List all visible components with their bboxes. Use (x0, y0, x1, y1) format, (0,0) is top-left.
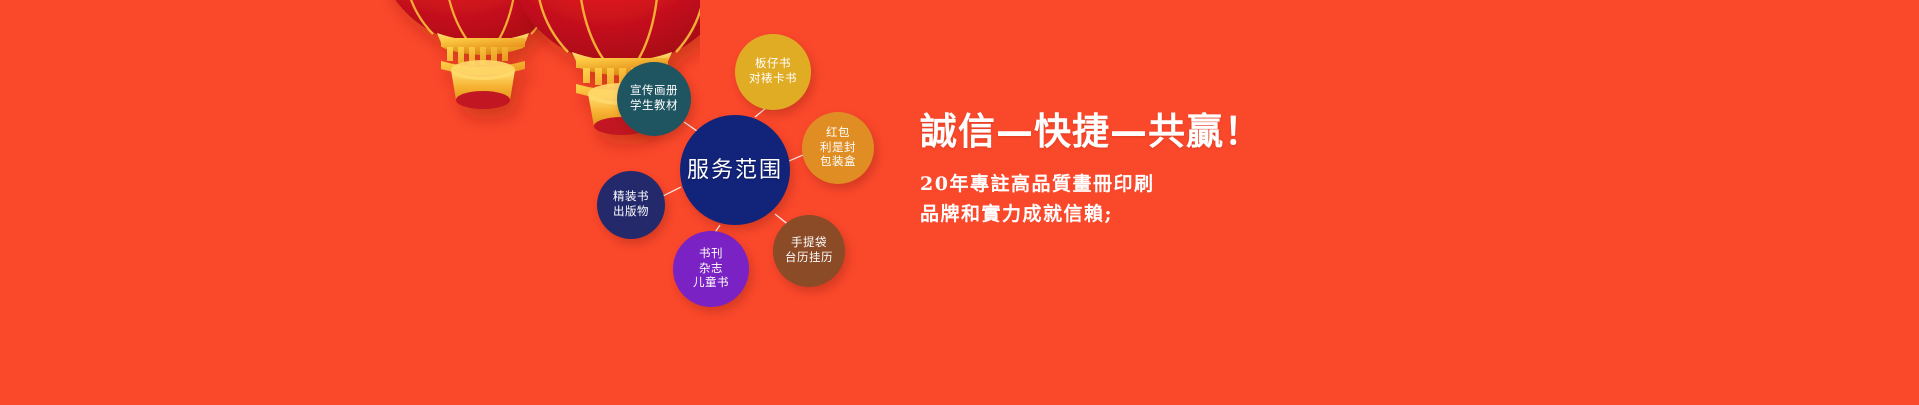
bubble-board-books[interactable]: 板仔书 对裱卡书 (735, 34, 811, 110)
bubble-line: 书刊 (699, 247, 723, 262)
bubble-service-scope[interactable]: 服务范围 (680, 115, 790, 225)
slogan-headline: 誠信—快捷—共贏！ (920, 112, 1680, 153)
bubble-line: 利是封 (820, 141, 856, 156)
slogan-subline-2: 品牌和實力成就信賴; (920, 199, 1680, 230)
bubble-line: 对裱卡书 (749, 72, 797, 87)
bubble-line: 精装书 (613, 190, 649, 205)
bubble-promo-albums[interactable]: 宣传画册 学生教材 (617, 62, 691, 136)
bubble-line: 台历挂历 (785, 251, 833, 266)
bubble-line: 儿童书 (693, 276, 729, 291)
bubble-line: 杂志 (699, 262, 723, 277)
bubble-handbags-calendars[interactable]: 手提袋 台历挂历 (773, 215, 845, 287)
bubble-line: 手提袋 (791, 236, 827, 251)
slogan-subline-1: 20年專註高品質畫冊印刷 (920, 169, 1680, 200)
bubble-line: 学生教材 (630, 99, 678, 114)
bubble-line: 出版物 (613, 205, 649, 220)
bubble-line: 包装盒 (820, 155, 856, 170)
bubble-red-envelopes[interactable]: 红包 利是封 包装盒 (802, 112, 874, 184)
bubble-hardcover-publications[interactable]: 精装书 出版物 (597, 171, 665, 239)
bubble-line: 板仔书 (755, 57, 791, 72)
bubble-periodicals[interactable]: 书刊 杂志 儿童书 (673, 231, 749, 307)
bubble-center-label: 服务范围 (687, 156, 783, 184)
bubble-line: 宣传画册 (630, 84, 678, 99)
bubble-line: 红包 (826, 126, 850, 141)
promo-banner: 宣传画册 学生教材 板仔书 对裱卡书 红包 利是封 包装盒 手提袋 台历挂历 书… (0, 0, 1919, 405)
slogan-block: 誠信—快捷—共贏！ 20年專註高品質畫冊印刷 品牌和實力成就信賴; (920, 112, 1680, 230)
